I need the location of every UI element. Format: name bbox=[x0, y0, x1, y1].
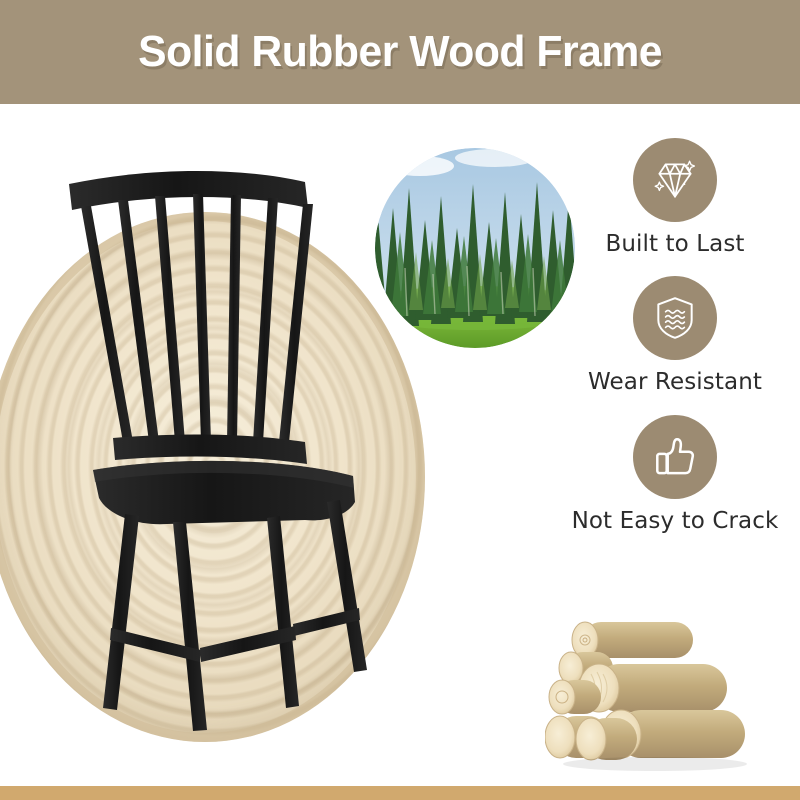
chair-stretchers bbox=[110, 608, 360, 662]
product-infographic: Solid Rubber Wood Frame bbox=[0, 0, 800, 800]
header-banner: Solid Rubber Wood Frame bbox=[0, 0, 800, 104]
feature-item-built-to-last[interactable]: Built to Last bbox=[555, 138, 795, 257]
feature-label: Not Easy to Crack bbox=[555, 509, 795, 534]
feature-badge-circle bbox=[633, 138, 717, 222]
page-title: Solid Rubber Wood Frame bbox=[138, 27, 662, 77]
footer-accent-bar bbox=[0, 786, 800, 800]
diamond-icon bbox=[650, 155, 700, 205]
pine-forest-photo bbox=[375, 148, 575, 348]
feature-badge-circle bbox=[633, 276, 717, 360]
product-image-chair bbox=[55, 150, 395, 750]
log bbox=[579, 664, 727, 712]
thumbs-up-icon bbox=[650, 432, 700, 482]
feature-label: Wear Resistant bbox=[555, 370, 795, 395]
chair-back bbox=[69, 171, 313, 464]
chair-seat bbox=[93, 461, 355, 524]
log bbox=[549, 680, 601, 714]
feature-list: Built to Last Wear Resistant bbox=[555, 138, 795, 553]
log bbox=[576, 718, 637, 760]
stacked-wood-logs-photo bbox=[545, 608, 795, 788]
feature-item-not-easy-to-crack[interactable]: Not Easy to Crack bbox=[555, 415, 795, 534]
feature-label: Built to Last bbox=[555, 232, 795, 257]
chair-legs bbox=[103, 500, 367, 731]
shield-waves-icon bbox=[650, 293, 700, 343]
feature-item-wear-resistant[interactable]: Wear Resistant bbox=[555, 276, 795, 395]
feature-badge-circle bbox=[633, 415, 717, 499]
